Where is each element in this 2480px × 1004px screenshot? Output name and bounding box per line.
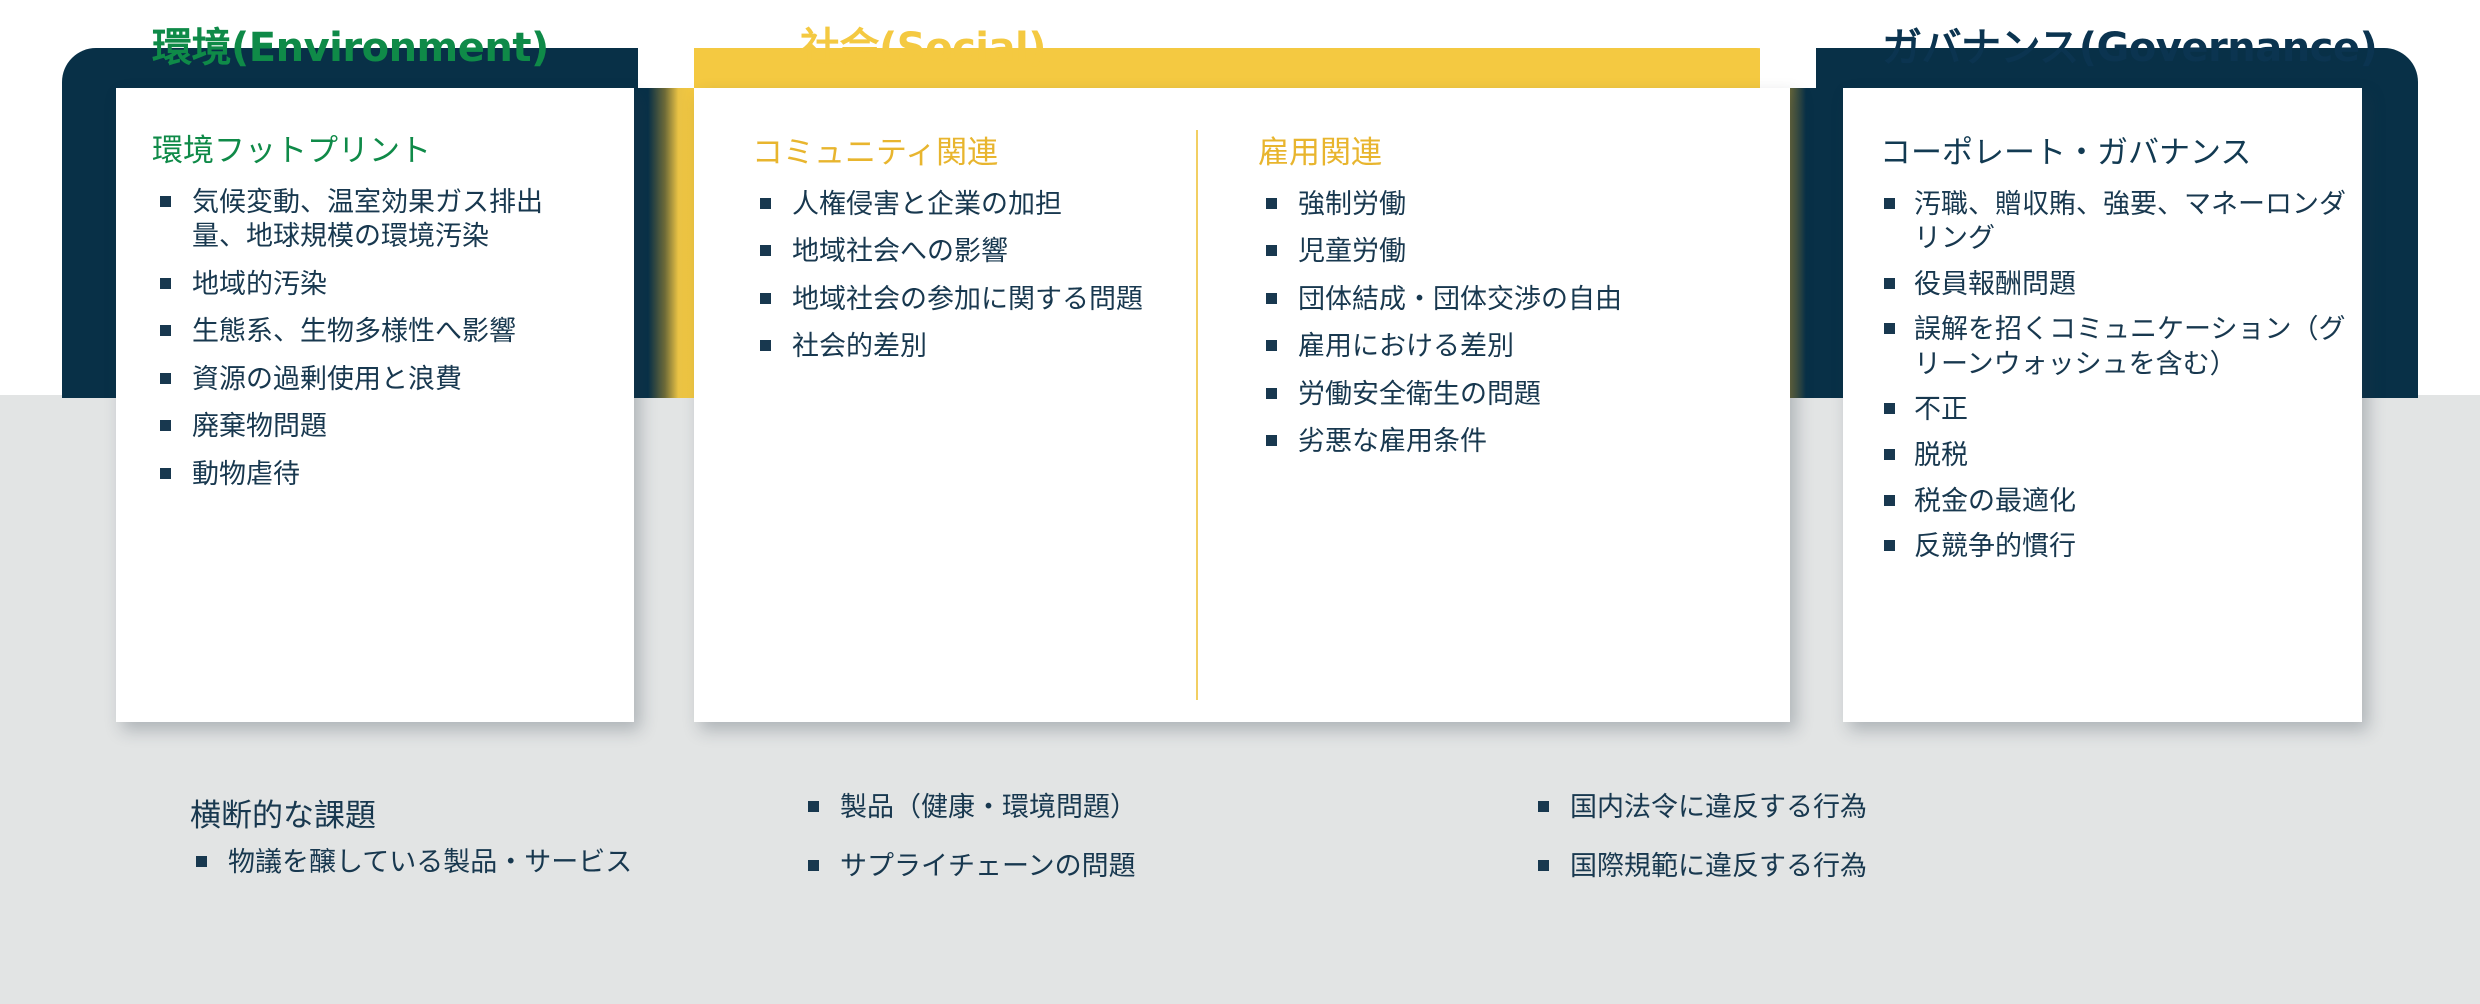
list-item-label: 国際規範に違反する行為	[1570, 851, 1867, 881]
list-item-label: 資源の過剰使用と浪費	[192, 364, 462, 394]
bullet-square-icon	[1266, 340, 1277, 351]
list-item-label: 動物虐待	[192, 459, 300, 489]
bullet-square-icon	[1266, 198, 1277, 209]
list-item-label: 劣悪な雇用条件	[1298, 426, 1487, 456]
bullet-square-icon	[160, 373, 171, 384]
bullet-square-icon	[160, 325, 171, 336]
list-item: 地域的汚染	[152, 267, 572, 302]
bullet-list-employment: 強制労働 児童労働 団体結成・団体交渉の自由 雇用における差別 労働安全衛生の問…	[1258, 187, 1728, 459]
bullet-square-icon	[760, 293, 771, 304]
list-item-label: 雇用における差別	[1298, 331, 1514, 361]
list-item-label: 地域社会の参加に関する問題	[792, 284, 1143, 314]
bullet-square-icon	[196, 856, 207, 867]
list-item-label: 児童労働	[1298, 236, 1406, 266]
list-item: 誤解を招くコミュニケーション（グリーンウォッシュを含む）	[1880, 312, 2350, 381]
list-item-label: 人権侵害と企業の加担	[792, 189, 1062, 219]
list-item: 役員報酬問題	[1880, 267, 2350, 302]
bullet-square-icon	[1266, 245, 1277, 256]
list-item-label: 国内法令に違反する行為	[1570, 792, 1867, 822]
column-title-environment-footprint: 環境フットプリント	[152, 132, 572, 171]
bullet-list-cross-2: 製品（健康・環境問題） サプライチェーンの問題	[800, 790, 1360, 883]
bullet-square-icon	[1266, 435, 1277, 446]
bullet-square-icon	[160, 468, 171, 479]
list-item: 動物虐待	[152, 457, 572, 492]
bullet-list-cross-3: 国内法令に違反する行為 国際規範に違反する行為	[1530, 790, 2090, 883]
list-item: 生態系、生物多様性へ影響	[152, 314, 572, 349]
list-item: 反競争的慣行	[1880, 529, 2350, 564]
bullet-square-icon	[808, 860, 819, 871]
bullet-square-icon	[808, 801, 819, 812]
list-item: 団体結成・団体交渉の自由	[1258, 282, 1728, 317]
bullet-square-icon	[1884, 278, 1895, 289]
bullet-square-icon	[760, 198, 771, 209]
list-item: 資源の過剰使用と浪費	[152, 362, 572, 397]
list-item: サプライチェーンの問題	[800, 849, 1360, 884]
shell-seam-environment-social	[638, 48, 694, 398]
bullet-square-icon	[1884, 495, 1895, 506]
list-item-label: 汚職、贈収賄、強要、マネーロンダリング	[1914, 189, 2346, 254]
list-item-label: 税金の最適化	[1914, 486, 2076, 516]
list-item-label: 誤解を招くコミュニケーション（グリーンウォッシュを含む）	[1914, 314, 2345, 379]
social-column-divider	[1196, 130, 1198, 700]
bullet-square-icon	[1884, 198, 1895, 209]
list-item-label: 社会的差別	[792, 331, 927, 361]
cross-cutting-group-2: 製品（健康・環境問題） サプライチェーンの問題	[800, 790, 1360, 907]
section-heading-social: 社会(Social)	[800, 15, 1046, 73]
section-heading-governance: ガバナンス(Governance)	[1882, 15, 2377, 73]
cross-cutting-group-3: 国内法令に違反する行為 国際規範に違反する行為	[1530, 790, 2090, 907]
list-item: 廃棄物問題	[152, 409, 572, 444]
column-environment-footprint: 環境フットプリント 気候変動、温室効果ガス排出量、地球規模の環境汚染 地域的汚染…	[152, 132, 572, 505]
bullet-square-icon	[1538, 860, 1549, 871]
list-item: 地域社会の参加に関する問題	[752, 282, 1152, 317]
shell-seam-a-mask	[638, 48, 694, 88]
list-item: 労働安全衛生の問題	[1258, 377, 1728, 412]
list-item: 地域社会への影響	[752, 234, 1152, 269]
bullet-square-icon	[760, 340, 771, 351]
list-item: 国際規範に違反する行為	[1530, 849, 2090, 884]
list-item: 国内法令に違反する行為	[1530, 790, 2090, 825]
column-corporate-governance: コーポレート・ガバナンス 汚職、贈収賄、強要、マネーロンダリング 役員報酬問題 …	[1880, 134, 2350, 575]
list-item-label: 気候変動、温室効果ガス排出量、地球規模の環境汚染	[192, 187, 543, 252]
list-item-label: 団体結成・団体交渉の自由	[1298, 284, 1622, 314]
column-employment: 雇用関連 強制労働 児童労働 団体結成・団体交渉の自由 雇用における差別 労働安…	[1258, 134, 1728, 472]
list-item-label: 物議を醸している製品・サービス	[228, 847, 632, 877]
column-community: コミュニティ関連 人権侵害と企業の加担 地域社会への影響 地域社会の参加に関する…	[752, 134, 1152, 377]
list-item-label: 生態系、生物多様性へ影響	[192, 316, 516, 346]
list-item-label: 地域社会への影響	[792, 236, 1008, 266]
bullet-square-icon	[1884, 449, 1895, 460]
list-item-label: 反競争的慣行	[1914, 531, 2076, 561]
bullet-square-icon	[760, 245, 771, 256]
bullet-square-icon	[1884, 540, 1895, 551]
list-item: 社会的差別	[752, 329, 1152, 364]
list-item: 不正	[1880, 392, 2350, 427]
list-item: 税金の最適化	[1880, 484, 2350, 519]
list-item: 気候変動、温室効果ガス排出量、地球規模の環境汚染	[152, 185, 572, 254]
list-item: 製品（健康・環境問題）	[800, 790, 1360, 825]
bullet-list-governance: 汚職、贈収賄、強要、マネーロンダリング 役員報酬問題 誤解を招くコミュニケーショ…	[1880, 187, 2350, 564]
bullet-list-environment: 気候変動、温室効果ガス排出量、地球規模の環境汚染 地域的汚染 生態系、生物多様性…	[152, 185, 572, 492]
bullet-square-icon	[160, 196, 171, 207]
list-item: 強制労働	[1258, 187, 1728, 222]
bullet-square-icon	[160, 420, 171, 431]
list-item: 脱税	[1880, 438, 2350, 473]
cross-cutting-section: 横断的な課題 物議を醸している製品・サービス 製品（健康・環境問題） サプライチ…	[0, 790, 2480, 950]
list-item: 汚職、贈収賄、強要、マネーロンダリング	[1880, 187, 2350, 256]
bullet-square-icon	[1884, 403, 1895, 414]
list-item: 人権侵害と企業の加担	[752, 187, 1152, 222]
list-item-label: 不正	[1914, 394, 1968, 424]
bullet-list-cross-1: 物議を醸している製品・サービス	[190, 845, 750, 880]
column-title-community: コミュニティ関連	[752, 134, 1152, 173]
list-item-label: 廃棄物問題	[192, 411, 327, 441]
bullet-square-icon	[1538, 801, 1549, 812]
bullet-square-icon	[1266, 293, 1277, 304]
list-item-label: 脱税	[1914, 440, 1968, 470]
section-heading-environment: 環境(Environment)	[152, 15, 549, 73]
column-title-corporate-governance: コーポレート・ガバナンス	[1880, 134, 2350, 173]
list-item: 児童労働	[1258, 234, 1728, 269]
bullet-square-icon	[160, 278, 171, 289]
list-item: 雇用における差別	[1258, 329, 1728, 364]
list-item-label: 強制労働	[1298, 189, 1406, 219]
list-item: 物議を醸している製品・サービス	[190, 845, 750, 880]
bullet-square-icon	[1266, 388, 1277, 399]
shell-seam-b-mask	[1760, 48, 1816, 88]
list-item-label: 労働安全衛生の問題	[1298, 379, 1541, 409]
list-item-label: 役員報酬問題	[1914, 269, 2076, 299]
list-item-label: サプライチェーンの問題	[840, 851, 1136, 881]
list-item-label: 地域的汚染	[192, 269, 327, 299]
cross-cutting-group-1: 物議を醸している製品・サービス	[190, 845, 750, 904]
bullet-list-community: 人権侵害と企業の加担 地域社会への影響 地域社会の参加に関する問題 社会的差別	[752, 187, 1152, 364]
column-title-employment: 雇用関連	[1258, 134, 1728, 173]
cross-cutting-title: 横断的な課題	[190, 790, 376, 835]
list-item-label: 製品（健康・環境問題）	[840, 792, 1137, 822]
list-item: 劣悪な雇用条件	[1258, 424, 1728, 459]
bullet-square-icon	[1884, 323, 1895, 334]
